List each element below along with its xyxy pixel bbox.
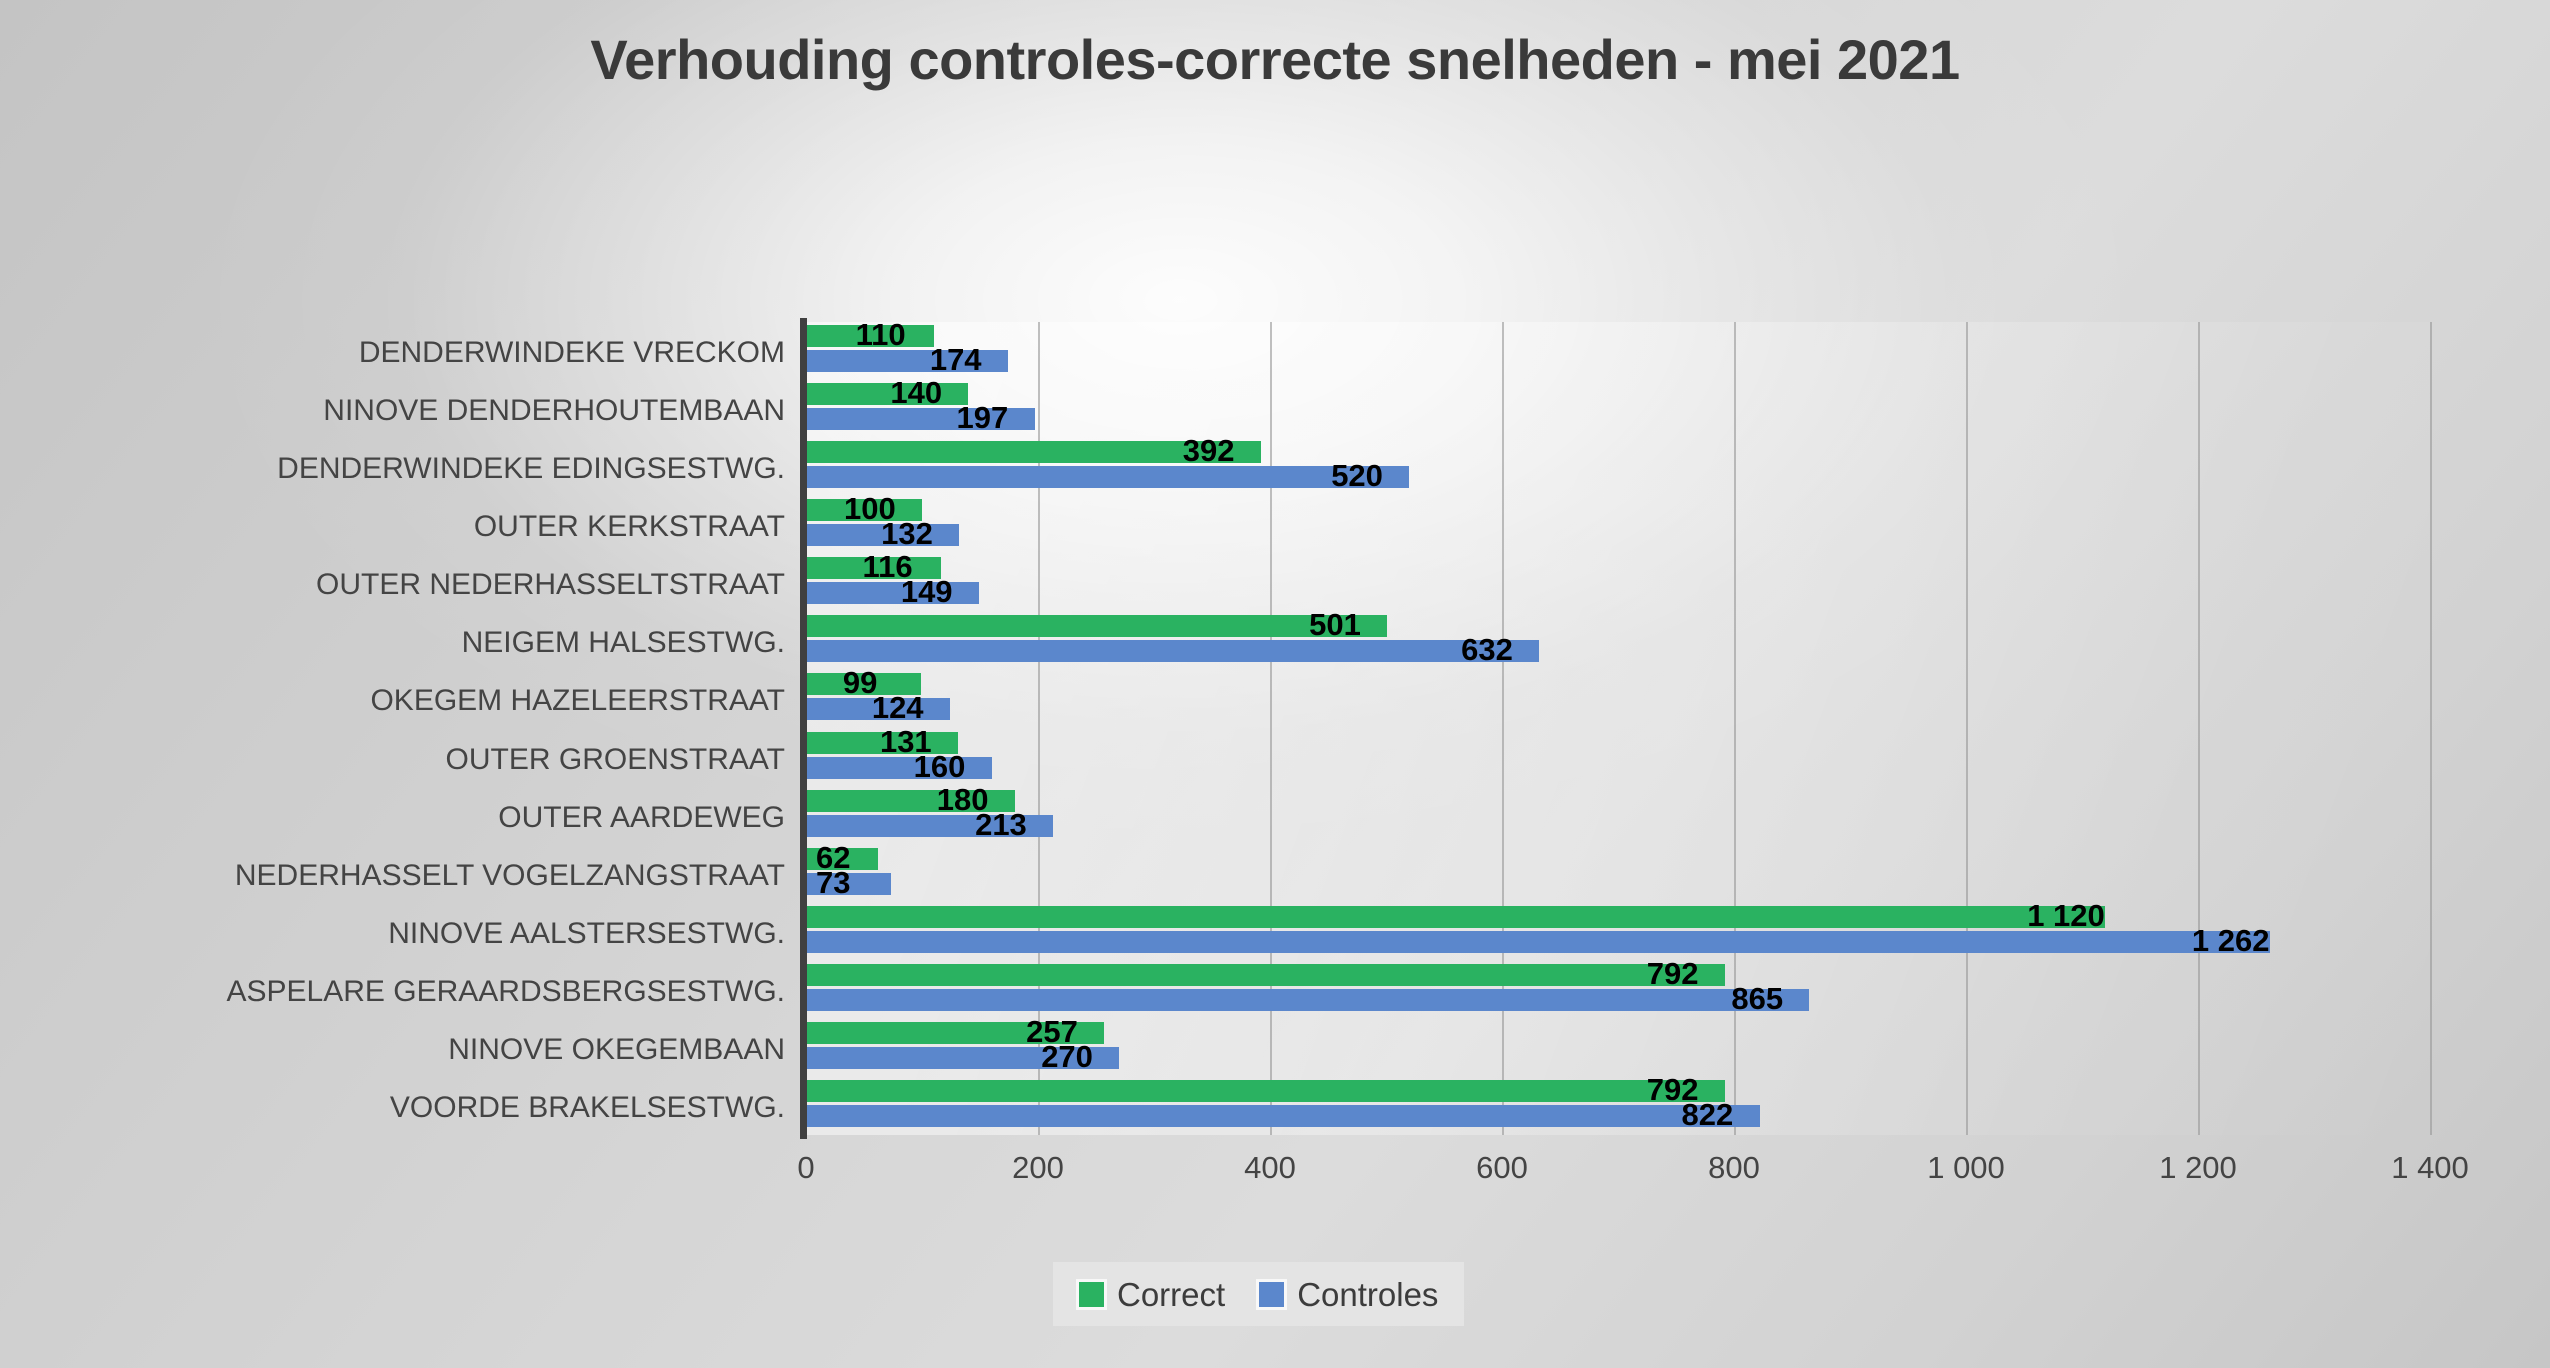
category-label: NINOVE AALSTERSESTWG. — [388, 919, 785, 949]
bar-value-label: 124 — [872, 692, 924, 723]
bar-value-label: 501 — [1309, 609, 1361, 640]
category-label: OUTER AARDEWEG — [498, 803, 785, 833]
category-label: NINOVE OKEGEMBAAN — [448, 1035, 785, 1065]
bar-controles[interactable] — [806, 640, 1539, 662]
bar-group: 116149 — [806, 557, 2430, 612]
category-label: ASPELARE GERAARDSBERGSESTWG. — [227, 977, 785, 1007]
bar-value-label: 392 — [1183, 435, 1235, 466]
x-tick-label: 1 400 — [2391, 1152, 2469, 1183]
x-tick-label: 0 — [797, 1152, 814, 1183]
bar-controles[interactable] — [806, 989, 1809, 1011]
bar-group: 100132 — [806, 499, 2430, 554]
bar-value-label: 520 — [1331, 460, 1383, 491]
legend-label: Controles — [1297, 1278, 1438, 1311]
x-tick-label: 200 — [1012, 1152, 1064, 1183]
bar-value-label: 110 — [856, 319, 906, 350]
bar-value-label: 160 — [914, 751, 966, 782]
legend-item[interactable]: Controles — [1259, 1278, 1438, 1311]
bar-controles[interactable] — [806, 582, 979, 604]
bar-value-label: 197 — [957, 402, 1009, 433]
bar-group: 110174 — [806, 325, 2430, 380]
bar-group: 392520 — [806, 441, 2430, 496]
bar-value-label: 73 — [816, 867, 850, 898]
bar-value-label: 822 — [1682, 1099, 1734, 1130]
legend-label: Correct — [1117, 1278, 1225, 1311]
bar-controles[interactable] — [806, 466, 1409, 488]
bar-value-label: 149 — [901, 576, 953, 607]
bar-correct[interactable] — [806, 964, 1725, 986]
bar-group: 6273 — [806, 848, 2430, 903]
bar-value-label: 213 — [975, 809, 1027, 840]
bar-group: 501632 — [806, 615, 2430, 670]
category-label: VOORDE BRAKELSESTWG. — [390, 1093, 785, 1123]
bar-group: 180213 — [806, 790, 2430, 845]
x-tick-label: 600 — [1476, 1152, 1528, 1183]
category-label: OUTER KERKSTRAAT — [474, 512, 785, 542]
bar-group: 257270 — [806, 1022, 2430, 1077]
category-label: NINOVE DENDERHOUTEMBAAN — [323, 396, 785, 426]
bar-group: 99124 — [806, 673, 2430, 728]
category-label: DENDERWINDEKE EDINGSESTWG. — [277, 454, 785, 484]
x-tick-label: 1 200 — [2159, 1152, 2237, 1183]
legend-swatch-icon — [1259, 1282, 1284, 1307]
bar-correct[interactable] — [806, 1080, 1725, 1102]
bar-value-label: 1 262 — [2192, 925, 2270, 956]
chart-title: Verhouding controles-correcte snelheden … — [0, 26, 2550, 93]
bar-group: 792865 — [806, 964, 2430, 1019]
bar-group: 131160 — [806, 732, 2430, 787]
category-label: OUTER NEDERHASSELTSTRAAT — [316, 570, 785, 600]
bar-controles[interactable] — [806, 1105, 1760, 1127]
gridline — [2430, 322, 2432, 1135]
x-tick-label: 800 — [1708, 1152, 1760, 1183]
legend-item[interactable]: Correct — [1079, 1278, 1225, 1311]
bar-value-label: 174 — [930, 344, 982, 375]
category-label: DENDERWINDEKE VRECKOM — [359, 338, 785, 368]
bar-controles[interactable] — [806, 931, 2270, 953]
plot-area: 1101741401973925201001321161495016329912… — [806, 322, 2430, 1135]
bar-value-label: 270 — [1041, 1041, 1093, 1072]
y-axis-line — [800, 318, 807, 1139]
category-label: OUTER GROENSTRAAT — [446, 745, 785, 775]
x-tick-label: 400 — [1244, 1152, 1296, 1183]
category-label: NEIGEM HALSESTWG. — [462, 628, 785, 658]
bar-value-label: 140 — [890, 377, 942, 408]
chart-container: Verhouding controles-correcte snelheden … — [0, 0, 2550, 1368]
bar-group: 1 1201 262 — [806, 906, 2430, 961]
x-tick-label: 1 000 — [1927, 1152, 2005, 1183]
bar-correct[interactable] — [806, 906, 2105, 928]
bar-group: 792822 — [806, 1080, 2430, 1135]
category-label: OKEGEM HAZELEERSTRAAT — [370, 686, 785, 716]
bar-value-label: 792 — [1647, 958, 1699, 989]
bar-value-label: 132 — [881, 518, 933, 549]
bar-correct[interactable] — [806, 615, 1387, 637]
bar-correct[interactable] — [806, 383, 968, 405]
legend-swatch-icon — [1079, 1282, 1104, 1307]
bar-value-label: 632 — [1461, 634, 1513, 665]
bar-value-label: 865 — [1731, 983, 1783, 1014]
chart-legend: CorrectControles — [1053, 1262, 1464, 1326]
category-label: NEDERHASSELT VOGELZANGSTRAAT — [235, 861, 785, 891]
bar-value-label: 1 120 — [2027, 900, 2105, 931]
bar-group: 140197 — [806, 383, 2430, 438]
